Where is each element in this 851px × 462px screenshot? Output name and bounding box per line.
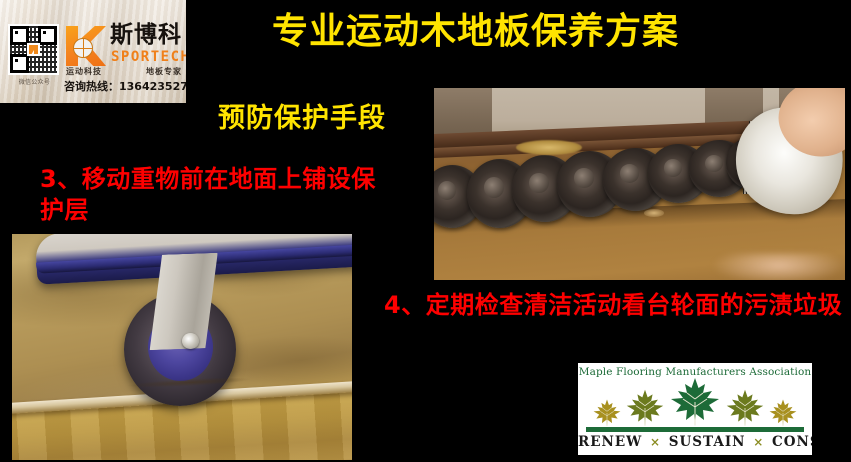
mfma-divider — [586, 427, 804, 432]
bullet-item-3: 3、移动重物前在地面上铺设保护层 — [40, 164, 380, 225]
mfma-logo: Maple Flooring Manufacturers Association — [578, 363, 812, 455]
bullet-item-4: 4、定期检查清洁活动看台轮面的污渍垃圾 — [384, 290, 846, 321]
maple-leaf-icon-1 — [592, 399, 622, 427]
brand-name-cn: 斯博科 — [110, 24, 182, 47]
page-title: 专业运动木地板保养方案 — [272, 13, 679, 52]
brand-banner: 微信公众号 斯博科 SPORTECH 运动科技 地板专家 咨询热线：136423… — [0, 0, 186, 103]
mfma-tagline-conserve: CONSERVE — [772, 434, 812, 450]
mfma-tagline: RENEW × SUSTAIN × CONSERVE — [578, 434, 812, 450]
qr-finder-top-right — [38, 26, 57, 45]
mfma-tagline-sustain: SUSTAIN — [669, 434, 746, 450]
brand-tag-right: 地板专家 — [146, 68, 182, 76]
maple-leaf-icon-4 — [725, 389, 765, 427]
qr-code-icon[interactable] — [8, 24, 59, 75]
brand-taglines: 运动科技 地板专家 — [66, 68, 182, 76]
brand-hotline: 咨询热线：13642352768 — [64, 81, 186, 92]
mfma-separator-2: × — [751, 435, 766, 449]
qr-caption: 微信公众号 — [8, 77, 61, 86]
mfma-leaf-row — [578, 379, 812, 427]
mfma-tagline-renew: RENEW — [578, 434, 642, 450]
qr-center-logo — [27, 43, 40, 56]
brand-tag-left: 运动科技 — [66, 68, 102, 76]
photo-debris-1 — [516, 140, 582, 155]
photo-cart-caster — [12, 234, 352, 460]
basketball-icon — [73, 38, 93, 58]
photo-bleacher-wheels — [434, 88, 845, 280]
mfma-separator-1: × — [648, 435, 663, 449]
slide-canvas: 微信公众号 斯博科 SPORTECH 运动科技 地板专家 咨询热线：136423… — [0, 0, 851, 462]
photo-debris-2 — [644, 209, 665, 217]
section-subtitle: 预防保护手段 — [218, 104, 386, 134]
maple-leaf-icon-2 — [625, 389, 665, 427]
maple-leaf-icon-5 — [768, 399, 798, 427]
sportech-logo-icon — [66, 26, 106, 66]
photo-blur-foreground — [713, 253, 845, 280]
maple-leaf-icon-3 — [668, 377, 722, 427]
brand-name-en: SPORTECH — [111, 50, 186, 64]
qr-block: 微信公众号 — [8, 24, 61, 86]
qr-finder-bottom-left — [10, 54, 29, 73]
